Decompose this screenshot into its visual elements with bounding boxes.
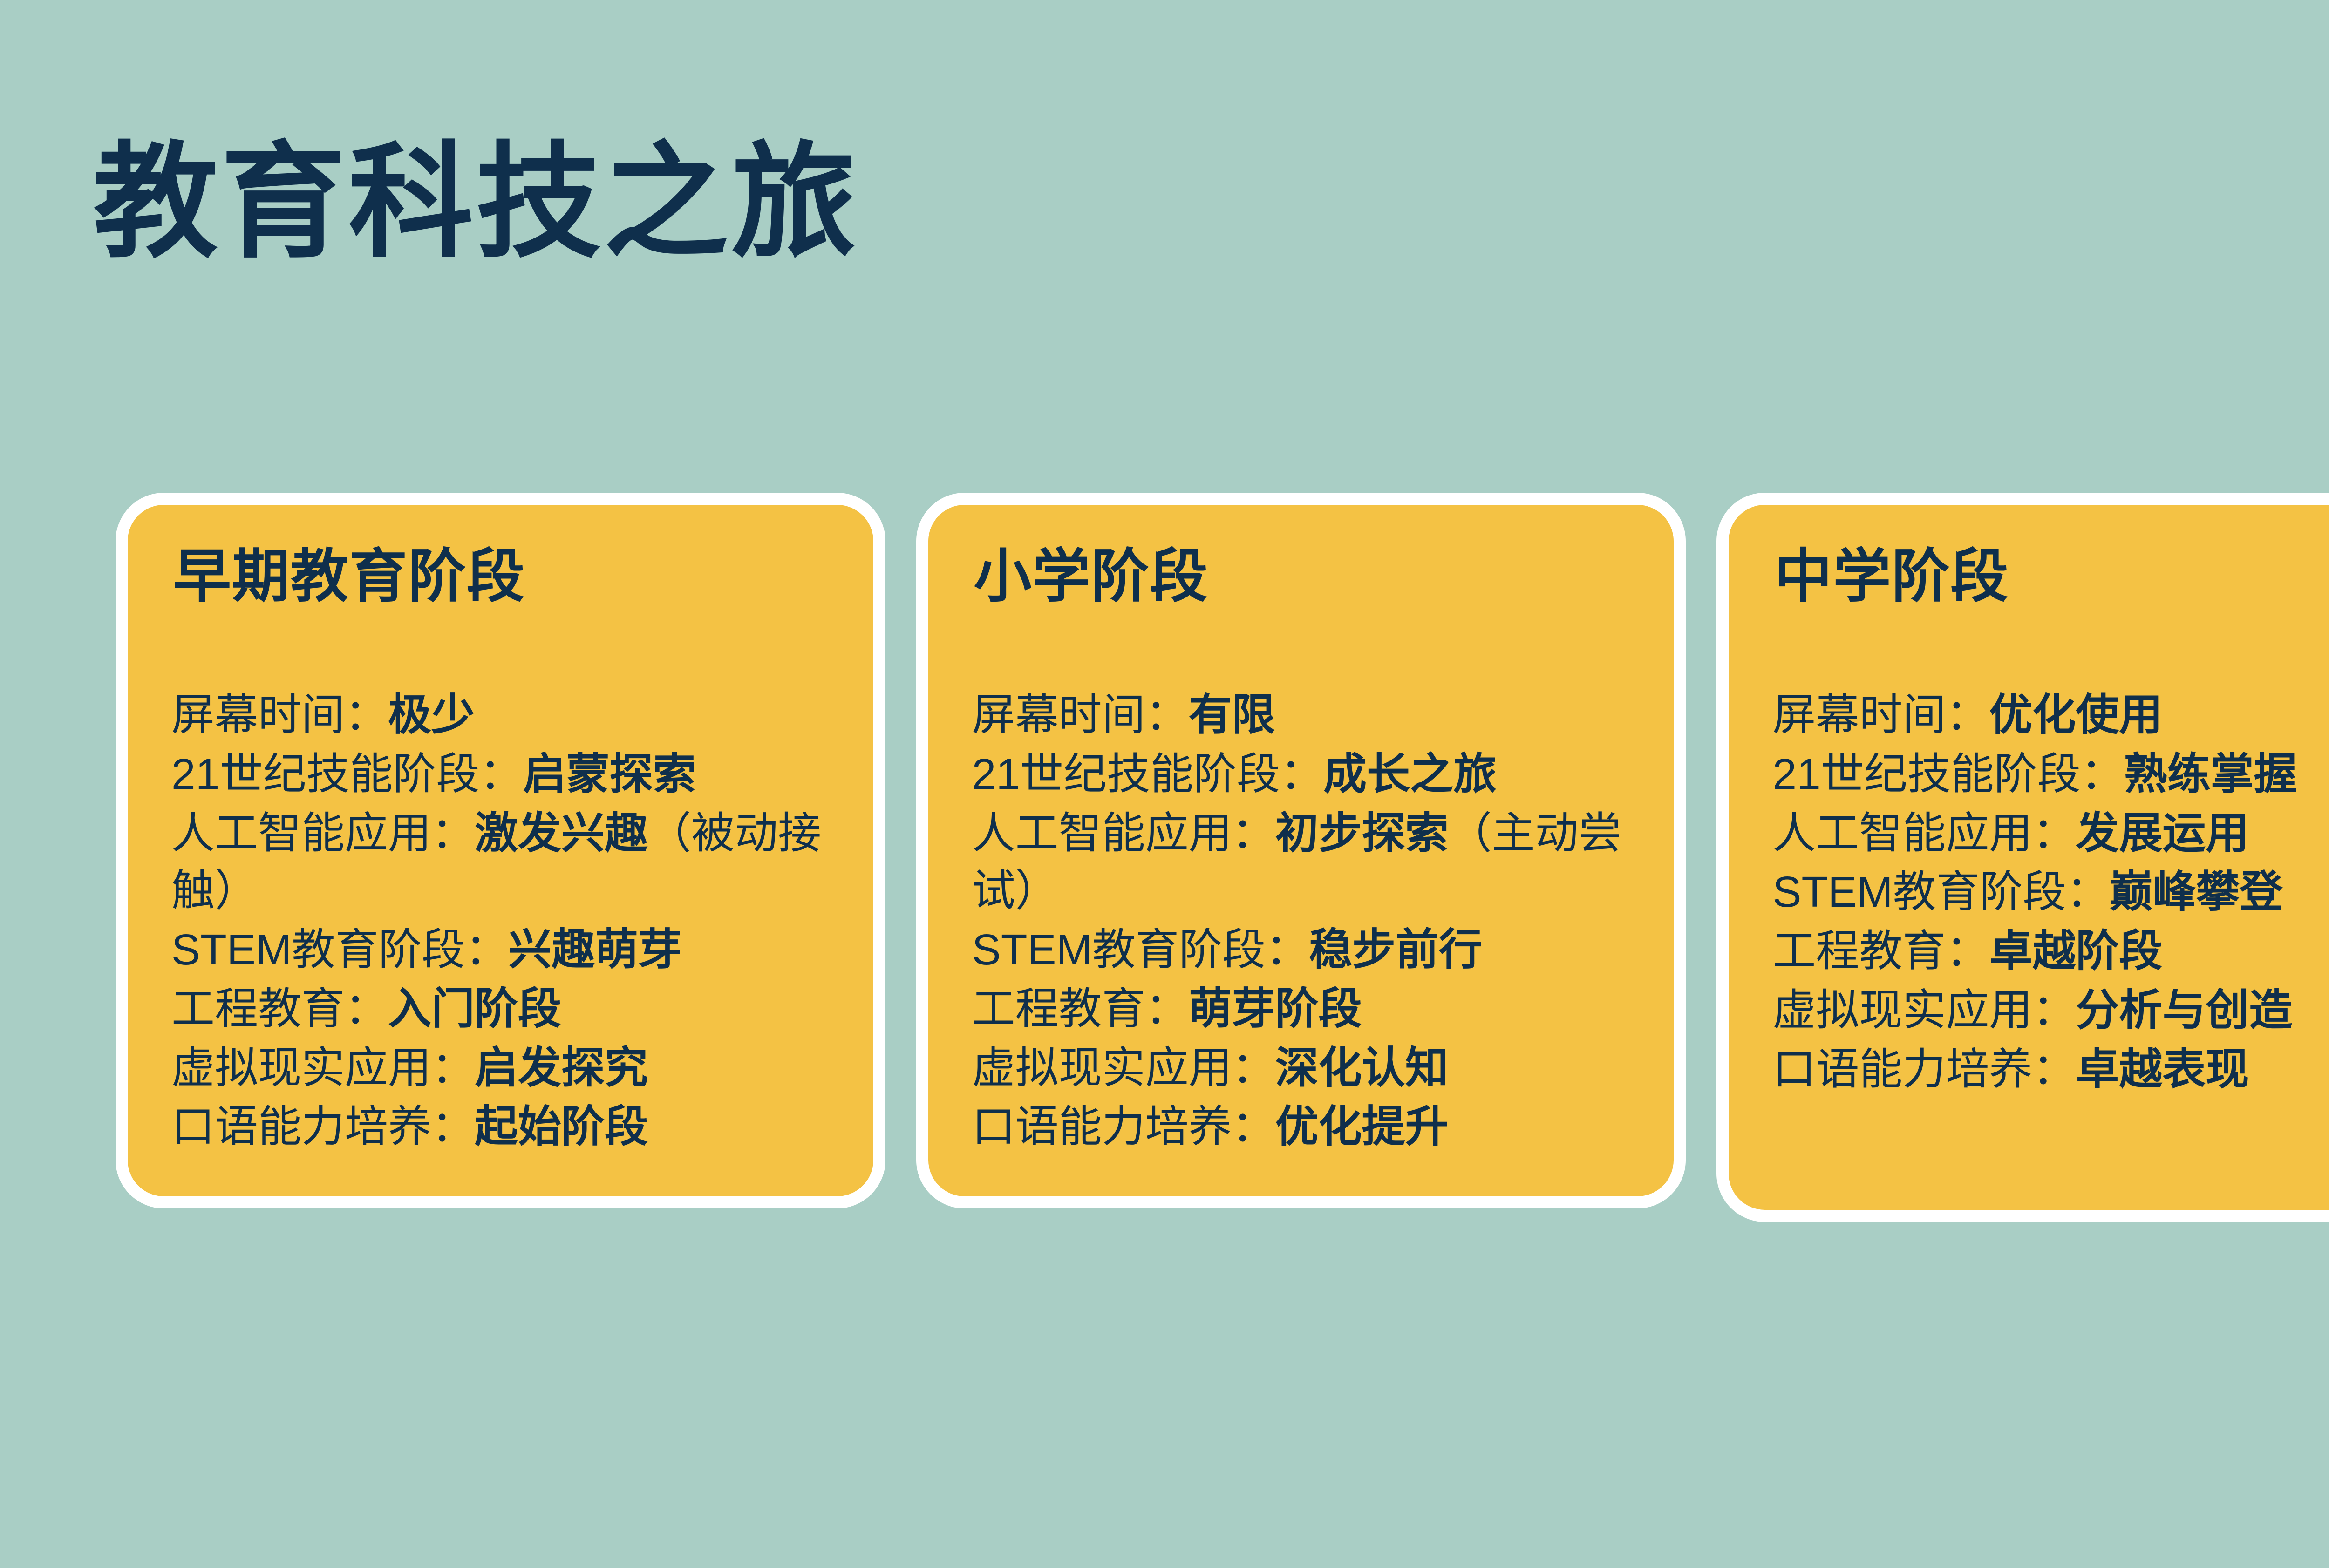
item-label: 工程教育： — [171, 984, 388, 1033]
item-label: 21世纪技能阶段： — [1772, 750, 2124, 798]
item-value: 起始阶段 — [475, 1102, 648, 1151]
item-value: 优化提升 — [1275, 1102, 1449, 1151]
list-item: 工程教育：萌芽阶段 — [972, 980, 1641, 1038]
item-value: 初步探索 — [1275, 809, 1449, 857]
item-value: 卓越阶段 — [1989, 927, 2162, 975]
item-label: 工程教育： — [1772, 927, 1989, 975]
card-title: 中学阶段 — [1774, 545, 2329, 608]
item-label: STEM教育阶段： — [1772, 868, 2109, 916]
item-label: 21世纪技能阶段： — [171, 750, 523, 798]
item-label: 虚拟现实应用： — [171, 1044, 475, 1092]
item-value: 有限 — [1189, 691, 1275, 739]
item-value: 启蒙探索 — [523, 750, 696, 798]
item-label: 人工智能应用： — [972, 809, 1275, 857]
list-item: 口语能力培养：卓越表现 — [1772, 1041, 2329, 1099]
item-value: 成长之旅 — [1323, 750, 1497, 798]
item-value: 萌芽阶段 — [1189, 984, 1362, 1033]
list-item: 屏幕时间：优化使用 — [1772, 686, 2329, 744]
item-value: 巅峰攀登 — [2110, 868, 2283, 916]
item-value: 启发探究 — [475, 1044, 648, 1092]
item-value: 入门阶段 — [388, 984, 561, 1033]
card-title: 小学阶段 — [974, 545, 1641, 608]
list-item: 屏幕时间：有限 — [972, 686, 1641, 744]
list-item: STEM教育阶段：巅峰攀登 — [1772, 863, 2329, 921]
list-item: 屏幕时间：极少 — [171, 686, 840, 744]
list-item: 虚拟现实应用：分析与创造 — [1772, 982, 2329, 1039]
item-value: 稳步前行 — [1309, 925, 1482, 974]
item-label: 口语能力培养： — [972, 1102, 1275, 1151]
card-title: 早期教育阶段 — [173, 545, 840, 608]
list-item: 口语能力培养：优化提升 — [972, 1098, 1641, 1156]
item-label: 虚拟现实应用： — [1772, 986, 2076, 1034]
card-detail-list: 屏幕时间：有限 21世纪技能阶段：成长之旅 人工智能应用：初步探索（主动尝试） … — [972, 686, 1641, 1156]
item-label: 工程教育： — [972, 984, 1189, 1033]
item-label: 人工智能应用： — [171, 809, 475, 857]
item-value: 发展运用 — [2076, 809, 2249, 857]
list-item: 21世纪技能阶段：熟练掌握 — [1772, 746, 2329, 803]
item-value: 熟练掌握 — [2124, 750, 2297, 798]
item-label: 虚拟现实应用： — [972, 1044, 1275, 1092]
item-label: STEM教育阶段： — [171, 925, 508, 974]
stage-card-row: 早期教育阶段 屏幕时间：极少 21世纪技能阶段：启蒙探索 人工智能应用：激发兴趣… — [116, 493, 2329, 1222]
item-value: 兴趣萌芽 — [508, 925, 681, 974]
card-detail-list: 屏幕时间：极少 21世纪技能阶段：启蒙探索 人工智能应用：激发兴趣（被动接触） … — [171, 686, 840, 1156]
list-item: 口语能力培养：起始阶段 — [171, 1098, 840, 1156]
item-label: 屏幕时间： — [972, 691, 1189, 739]
list-item: 人工智能应用：激发兴趣（被动接触） — [171, 805, 840, 920]
list-item: 21世纪技能阶段：成长之旅 — [972, 746, 1641, 803]
list-item: 人工智能应用：初步探索（主动尝试） — [972, 805, 1641, 920]
item-value: 卓越表现 — [2076, 1045, 2249, 1093]
item-label: STEM教育阶段： — [972, 925, 1309, 974]
stage-card-early-education[interactable]: 早期教育阶段 屏幕时间：极少 21世纪技能阶段：启蒙探索 人工智能应用：激发兴趣… — [116, 493, 885, 1208]
item-value: 激发兴趣 — [475, 809, 648, 857]
list-item: 虚拟现实应用：深化认知 — [972, 1039, 1641, 1097]
list-item: 人工智能应用：发展运用 — [1772, 805, 2329, 862]
slide-canvas: 教育科技之旅 早期教育阶段 屏幕时间：极少 21世纪技能阶段：启蒙探索 人工智能… — [0, 0, 2329, 1568]
item-value: 优化使用 — [1989, 691, 2162, 739]
item-label: 屏幕时间： — [171, 691, 388, 739]
list-item: STEM教育阶段：兴趣萌芽 — [171, 921, 840, 979]
item-value: 极少 — [388, 691, 475, 739]
item-value: 分析与创造 — [2076, 986, 2292, 1034]
card-detail-list: 屏幕时间：优化使用 21世纪技能阶段：熟练掌握 人工智能应用：发展运用 STEM… — [1772, 686, 2329, 1098]
stage-card-primary-school[interactable]: 小学阶段 屏幕时间：有限 21世纪技能阶段：成长之旅 人工智能应用：初步探索（主… — [916, 493, 1686, 1208]
list-item: 工程教育：卓越阶段 — [1772, 923, 2329, 980]
stage-card-middle-school[interactable]: 中学阶段 屏幕时间：优化使用 21世纪技能阶段：熟练掌握 人工智能应用：发展运用… — [1716, 493, 2329, 1222]
list-item: 虚拟现实应用：启发探究 — [171, 1039, 840, 1097]
list-item: STEM教育阶段：稳步前行 — [972, 921, 1641, 979]
list-item: 工程教育：入门阶段 — [171, 980, 840, 1038]
item-label: 口语能力培养： — [1772, 1045, 2076, 1093]
item-label: 屏幕时间： — [1772, 691, 1989, 739]
page-title: 教育科技之旅 — [93, 140, 859, 265]
item-label: 21世纪技能阶段： — [972, 750, 1323, 798]
item-label: 人工智能应用： — [1772, 809, 2076, 857]
item-value: 深化认知 — [1275, 1044, 1449, 1092]
item-label: 口语能力培养： — [171, 1102, 475, 1151]
list-item: 21世纪技能阶段：启蒙探索 — [171, 746, 840, 803]
